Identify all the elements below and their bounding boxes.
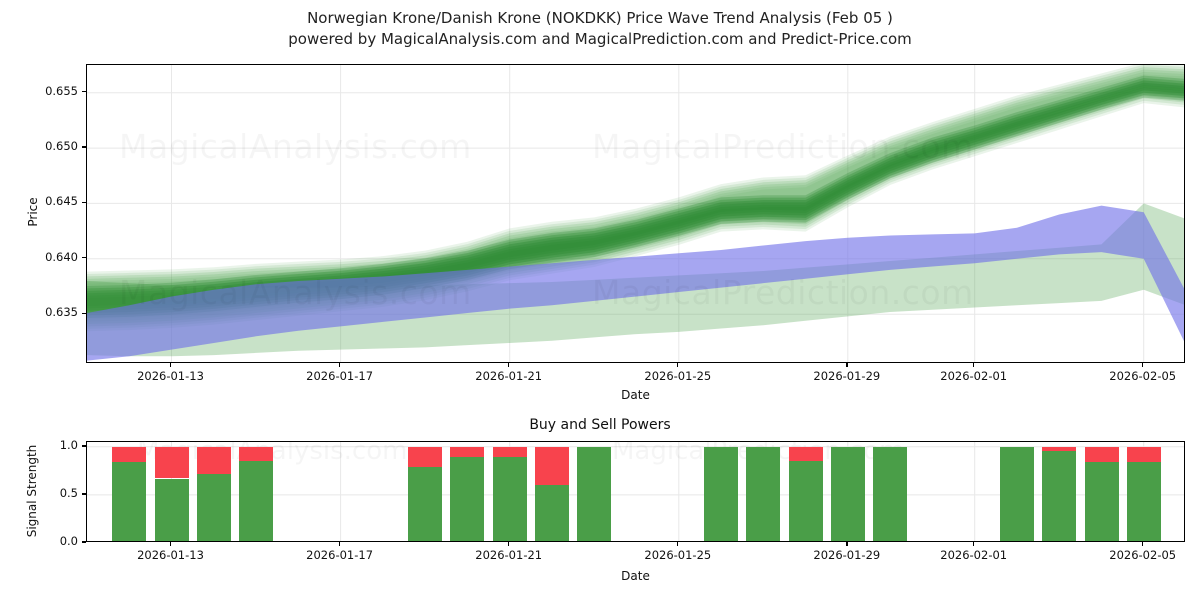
tick-mark xyxy=(82,541,86,542)
signal-xtick-label: 2026-01-17 xyxy=(285,548,395,562)
buy-power-bar xyxy=(577,447,611,542)
buy-power-bar xyxy=(1000,447,1034,542)
tick-mark xyxy=(82,91,86,92)
signal-bars-layer xyxy=(87,442,1185,542)
signal-xtick-label: 2026-01-21 xyxy=(454,548,564,562)
tick-mark xyxy=(1142,363,1143,367)
tick-mark xyxy=(677,542,678,546)
tick-mark xyxy=(82,313,86,314)
price-ytick-label: 0.655 xyxy=(26,84,78,98)
buy-power-bar xyxy=(239,461,273,542)
tick-mark xyxy=(82,493,86,494)
buy-sell-powers-panel: MagicalAnalysis.com MagicalPrediction.co… xyxy=(86,441,1185,542)
title-line-1: Norwegian Krone/Danish Krone (NOKDKK) Pr… xyxy=(0,8,1200,29)
price-wave-plot xyxy=(87,65,1185,363)
sell-power-bar xyxy=(1085,447,1119,462)
price-xtick-label: 2026-01-17 xyxy=(285,369,395,383)
sell-power-bar xyxy=(408,447,442,467)
sell-power-bar xyxy=(535,447,569,486)
price-xtick-label: 2026-01-21 xyxy=(454,369,564,383)
buy-power-bar xyxy=(535,485,569,542)
signal-xtick-label: 2026-01-29 xyxy=(792,548,902,562)
sell-power-bar xyxy=(239,447,273,461)
price-ytick-label: 0.640 xyxy=(26,250,78,264)
title-line-2: powered by MagicalAnalysis.com and Magic… xyxy=(0,29,1200,50)
signal-xtick-label: 2026-02-01 xyxy=(919,548,1029,562)
tick-mark xyxy=(508,363,509,367)
signal-ytick-label: 0.5 xyxy=(30,486,78,500)
buy-power-bar xyxy=(493,457,527,542)
buy-power-bar xyxy=(873,447,907,542)
tick-mark xyxy=(1142,542,1143,546)
buy-power-bar xyxy=(450,457,484,542)
buy-power-bar xyxy=(789,461,823,542)
signal-ytick-label: 0.0 xyxy=(30,534,78,548)
tick-mark xyxy=(973,542,974,546)
tick-mark xyxy=(82,146,86,147)
page-title: Norwegian Krone/Danish Krone (NOKDKK) Pr… xyxy=(0,8,1200,50)
sell-power-bar xyxy=(197,447,231,474)
tick-mark xyxy=(339,542,340,546)
tick-mark xyxy=(82,257,86,258)
buy-power-bar xyxy=(197,474,231,542)
tick-mark xyxy=(82,202,86,203)
tick-mark xyxy=(846,363,847,367)
signal-x-axis-label: Date xyxy=(86,569,1185,583)
sell-power-bar xyxy=(789,447,823,461)
price-ytick-label: 0.635 xyxy=(26,305,78,319)
tick-mark xyxy=(846,542,847,546)
price-xtick-label: 2026-01-13 xyxy=(116,369,226,383)
tick-mark xyxy=(339,363,340,367)
signal-ytick-label: 1.0 xyxy=(30,438,78,452)
tick-mark xyxy=(170,363,171,367)
price-xtick-label: 2026-02-05 xyxy=(1088,369,1198,383)
tick-mark xyxy=(677,363,678,367)
buy-power-bar xyxy=(408,467,442,542)
buy-power-bar xyxy=(112,462,146,542)
buy-power-bar xyxy=(831,447,865,542)
chart-page: Norwegian Krone/Danish Krone (NOKDKK) Pr… xyxy=(0,0,1200,600)
tick-mark xyxy=(508,542,509,546)
signal-xtick-label: 2026-01-25 xyxy=(623,548,733,562)
price-x-axis-label: Date xyxy=(86,388,1185,402)
tick-mark xyxy=(973,363,974,367)
buy-power-bar xyxy=(1042,451,1076,542)
price-xtick-label: 2026-01-25 xyxy=(623,369,733,383)
signal-xtick-label: 2026-02-05 xyxy=(1088,548,1198,562)
sell-power-bar xyxy=(1127,447,1161,462)
sell-power-bar xyxy=(155,447,189,479)
sell-power-bar xyxy=(493,447,527,458)
buy-power-bar xyxy=(704,447,738,542)
tick-mark xyxy=(170,542,171,546)
buy-sell-powers-title: Buy and Sell Powers xyxy=(0,417,1200,433)
price-axis-label: Price xyxy=(26,177,40,247)
sell-power-bar xyxy=(112,447,146,462)
buy-power-bar xyxy=(155,479,189,542)
price-xtick-label: 2026-02-01 xyxy=(919,369,1029,383)
price-ytick-label: 0.645 xyxy=(26,194,78,208)
sell-power-bar xyxy=(450,447,484,458)
tick-mark xyxy=(82,445,86,446)
price-xtick-label: 2026-01-29 xyxy=(792,369,902,383)
price-ytick-label: 0.650 xyxy=(26,139,78,153)
buy-power-bar xyxy=(746,447,780,542)
buy-power-bar xyxy=(1085,462,1119,542)
price-wave-chart-panel: MagicalAnalysis.com MagicalPrediction.co… xyxy=(86,64,1185,363)
buy-power-bar xyxy=(1127,462,1161,542)
signal-xtick-label: 2026-01-13 xyxy=(116,548,226,562)
